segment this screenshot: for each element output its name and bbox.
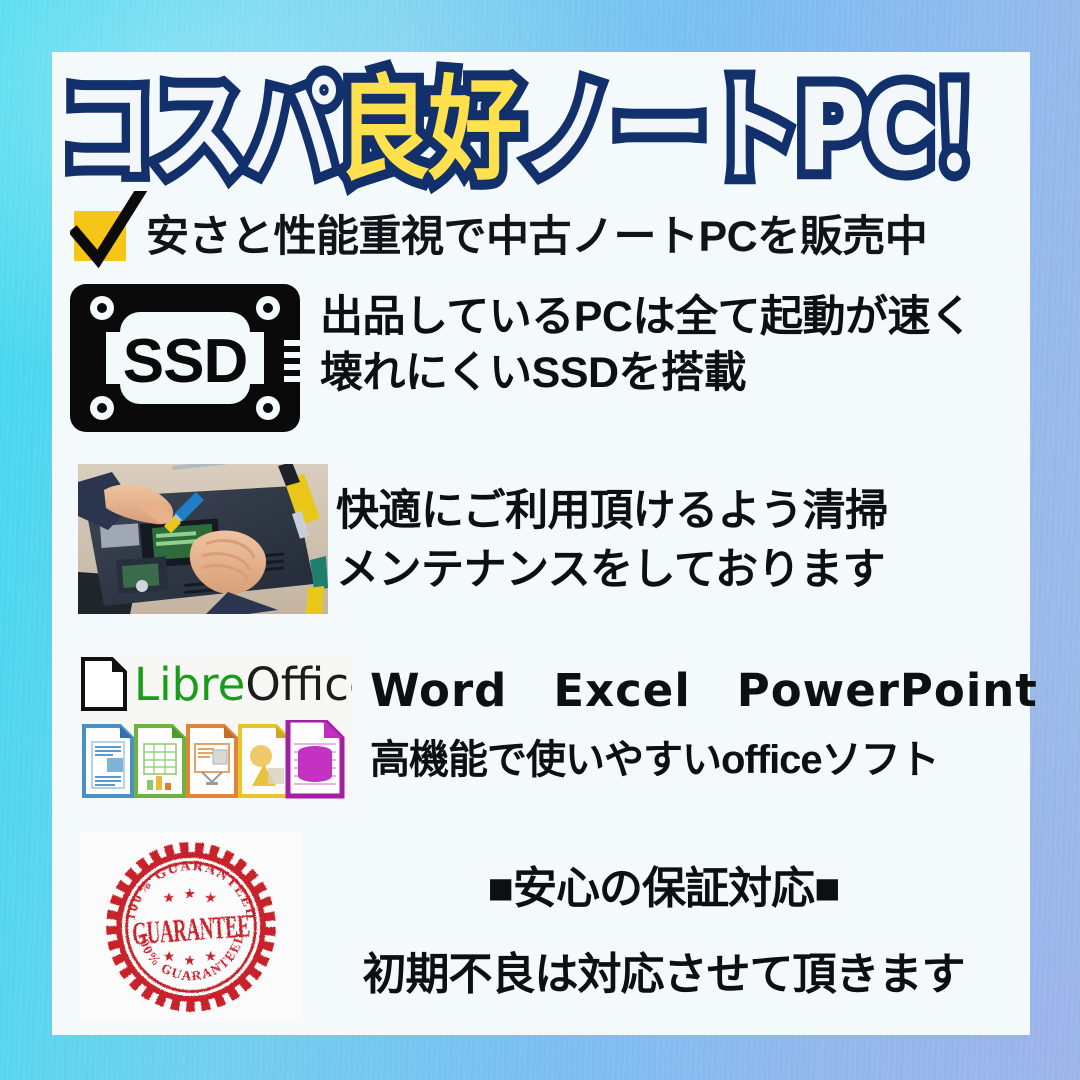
feature-office: LibreOffice [70,652,1015,802]
feature-maintenance-line-1: 快適にご利用頂けるよう清掃 [336,482,1015,541]
title-part-1: コスパ [59,64,335,196]
laptop-repair-photo [78,464,328,616]
libreoffice-calc-icon [136,726,184,796]
svg-text:★: ★ [183,887,196,903]
svg-text:★: ★ [204,949,217,965]
feature-ssd: SSD 出品しているPCは全て起動が速く 壊れにくいSSDを搭載 [70,278,1015,438]
feature-guarantee: ★ 100% GUARANTEED ★ ★ 100% GUARANTEED ★ … [70,832,1015,1022]
libreoffice-document-icon [80,656,128,712]
svg-text:★: ★ [163,949,176,965]
feature-maintenance: 快適にご利用頂けるよう清掃 メンテナンスをしております [70,464,1015,616]
libreoffice-logo: LibreOffice [76,652,354,802]
poster-title: コスパ良好ノートPC！ [52,70,1030,190]
svg-text:SSD: SSD [123,327,247,396]
libreoffice-logo-office: Office [245,658,352,711]
feature-office-desc: 高機能で使いやすいofficeソフト [370,727,1038,785]
feature-guarantee-copy: ■安心の保証対応■ 初期不良は対応させて頂きます [302,832,1015,1002]
feature-office-copy: Word Excel PowerPoint 高機能で使いやすいofficeソフト [354,652,1038,785]
feature-ssd-copy: 出品しているPCは全て起動が速く 壊れにくいSSDを搭載 [320,278,1015,402]
libreoffice-app-icons [78,720,352,800]
feature-ssd-line-1: 出品しているPCは全て起動が速く [320,290,1015,346]
check-icon [70,205,138,261]
ssd-icon: SSD [70,278,320,438]
svg-text:★: ★ [163,890,176,906]
title-text: コスパ良好ノートPC！ [59,73,1022,186]
feature-office-apps: Word Excel PowerPoint [370,654,1038,719]
feature-guarantee-line-1: ■安心の保証対応■ [312,852,1015,916]
libreoffice-logo-libre: Libre [134,658,245,711]
poster-canvas: コスパ良好ノートPC！ 安さと性能重視で中古ノートPCを販売中 [0,0,1080,1080]
poster-card: コスパ良好ノートPC！ 安さと性能重視で中古ノートPCを販売中 [52,52,1030,1035]
libreoffice-writer-icon [84,726,132,796]
headline-check-row: 安さと性能重視で中古ノートPCを販売中 [70,202,1015,264]
libreoffice-base-icon [288,720,342,796]
title-part-2: 良好 [336,64,520,196]
libreoffice-impress-icon [188,726,236,796]
feature-guarantee-line-2: 初期不良は対応させて頂きます [312,938,1015,1002]
feature-ssd-line-2: 壊れにくいSSDを搭載 [320,346,1015,402]
svg-text:★: ★ [204,890,217,906]
libreoffice-draw-icon [240,726,288,796]
title-part-3: ノートPC！ [520,64,1023,196]
guarantee-stamp: ★ 100% GUARANTEED ★ ★ 100% GUARANTEED ★ … [80,832,302,1022]
check-row-label: 安さと性能重視で中古ノートPCを販売中 [146,202,927,264]
feature-maintenance-copy: 快適にご利用頂けるよう清掃 メンテナンスをしております [328,464,1015,601]
feature-maintenance-line-2: メンテナンスをしております [336,541,1015,600]
svg-text:★: ★ [183,953,196,969]
